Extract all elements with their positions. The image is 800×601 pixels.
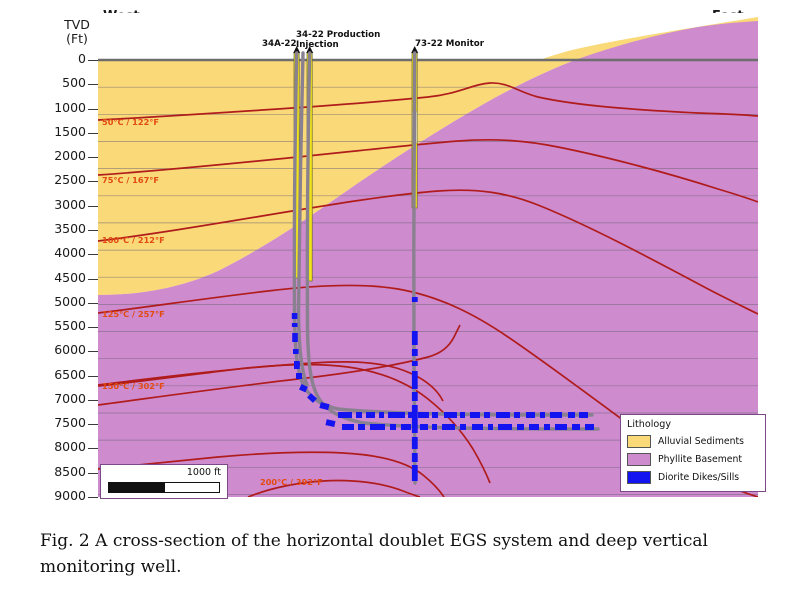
y-axis-tick-label: 5000 [54, 294, 86, 309]
y-axis-tick-label: 8000 [54, 439, 86, 454]
legend-item-label: Alluvial Sediments [658, 436, 744, 447]
temperature-contour-label: 200°C / 392°F [260, 477, 323, 487]
well-label-34a-22: 34A-22 [262, 40, 297, 50]
legend-item-label: Phyllite Basement [658, 454, 742, 465]
y-axis-tick-label: 2000 [54, 148, 86, 163]
figure-cross-section: TVD (Ft) West East 050010001500200025003… [0, 0, 800, 512]
temperature-contour-label: 100°C / 212°F [102, 235, 165, 245]
y-axis-tick-mark [88, 254, 98, 255]
y-axis-tick-label: 6000 [54, 342, 86, 357]
well-label-34-22-production-injection: 34-22 Production Injection [296, 31, 380, 50]
scale-bar-fill [109, 483, 165, 492]
well-label-73-22-monitor: 73-22 Monitor [415, 40, 484, 50]
y-axis-tick-label: 1500 [54, 124, 86, 139]
y-axis-tick-label: 7500 [54, 415, 86, 430]
y-axis-tick-mark [88, 206, 98, 207]
y-axis-tick-label: 0 [78, 51, 86, 66]
y-axis-tick-label: 6500 [54, 367, 86, 382]
legend-item-label: Diorite Dikes/Sills [658, 472, 739, 483]
scale-bar-label: 1000 ft [187, 467, 221, 478]
y-axis-tick-mark [88, 157, 98, 158]
y-axis-tick-label: 3500 [54, 221, 86, 236]
y-axis-tick-mark [88, 181, 98, 182]
temperature-contour-label: 125°C / 257°F [102, 309, 165, 319]
y-axis-tick-mark [88, 84, 98, 85]
y-axis-tick-mark [88, 279, 98, 280]
temperature-contour-label: 150°C / 302°F [102, 381, 165, 391]
legend-title: Lithology [627, 419, 759, 430]
figure-caption: Fig. 2 A cross-section of the horizontal… [40, 528, 756, 580]
scale-bar-graphic [108, 482, 220, 493]
y-axis-tick-mark [88, 133, 98, 134]
y-axis-tick-label: 4500 [54, 270, 86, 285]
y-axis-tick-label: 1000 [54, 100, 86, 115]
y-axis-tick-mark [88, 424, 98, 425]
y-axis-tick-mark [88, 376, 98, 377]
y-axis-tick-mark [88, 473, 98, 474]
legend-item: Phyllite Basement [627, 451, 759, 468]
y-axis-tick-label: 9000 [54, 488, 86, 503]
y-axis-tick-mark [88, 230, 98, 231]
temperature-contour-label: 50°C / 122°F [102, 117, 159, 127]
y-axis-tick-label: 7000 [54, 391, 86, 406]
y-axis-tick-mark [88, 60, 98, 61]
y-axis-tick-mark [88, 497, 98, 498]
y-axis: 0500100015002000250030003500400045005000… [0, 0, 98, 512]
legend-swatch [627, 453, 651, 466]
scale-bar: 1000 ft [100, 464, 228, 499]
legend-item: Alluvial Sediments [627, 433, 759, 450]
y-axis-tick-label: 2500 [54, 172, 86, 187]
y-axis-tick-mark [88, 448, 98, 449]
y-axis-tick-label: 4000 [54, 245, 86, 260]
legend-swatch [627, 435, 651, 448]
y-axis-tick-label: 5500 [54, 318, 86, 333]
y-axis-tick-mark [88, 327, 98, 328]
legend-lithology: Lithology Alluvial SedimentsPhyllite Bas… [620, 414, 766, 492]
y-axis-tick-mark [88, 303, 98, 304]
y-axis-tick-mark [88, 351, 98, 352]
y-axis-tick-label: 3000 [54, 197, 86, 212]
legend-item: Diorite Dikes/Sills [627, 469, 759, 486]
legend-rows: Alluvial SedimentsPhyllite BasementDiori… [627, 433, 759, 486]
legend-swatch [627, 471, 651, 484]
y-axis-tick-mark [88, 109, 98, 110]
y-axis-tick-label: 8500 [54, 464, 86, 479]
y-axis-tick-mark [88, 400, 98, 401]
y-axis-tick-label: 500 [62, 75, 86, 90]
temperature-contour-label: 75°C / 167°F [102, 175, 159, 185]
